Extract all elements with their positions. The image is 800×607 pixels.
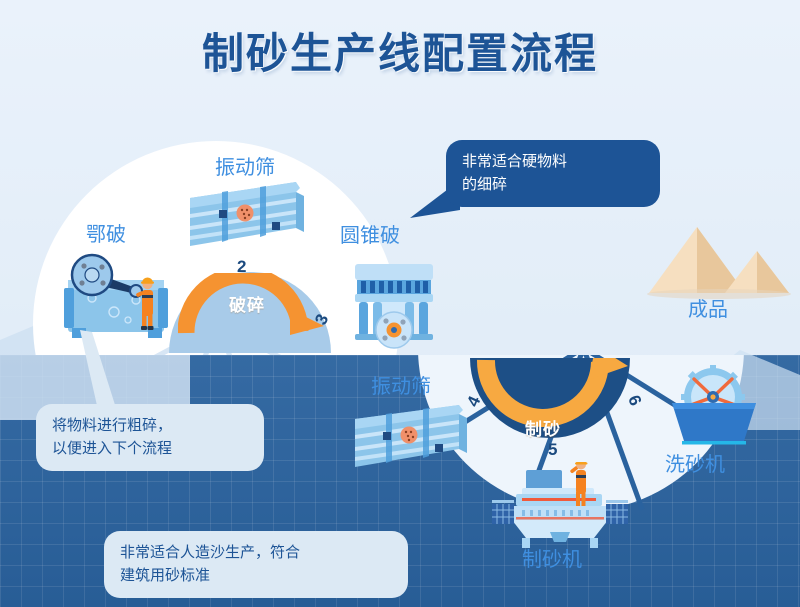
sand-maker-icon — [492, 462, 632, 550]
machine-label-jaw-crusher: 鄂破 — [86, 225, 126, 245]
sand-pile-icon — [645, 225, 795, 305]
sand-washer-icon — [658, 365, 768, 449]
callout-hard-material-fine-crushing: 非常适合硬物料 的细碎 — [446, 140, 660, 207]
vibrating-screen-icon — [188, 180, 308, 260]
step-number-5: 5 — [548, 441, 557, 458]
sand-making-arc-label: 制砂 — [525, 415, 561, 440]
crushing-arc-label: 破碎 — [229, 291, 265, 316]
step-number-2: 2 — [237, 258, 246, 275]
machine-label-vibrating-screen-top: 振动筛 — [215, 158, 275, 178]
product-label: 成品 — [688, 300, 728, 320]
callout-coarse-crushing: 将物料进行粗碎， 以便进入下个流程 — [36, 404, 264, 471]
machine-label-cone-crusher: 圆锥破 — [340, 226, 400, 246]
machine-label-vibrating-screen-bottom: 振动筛 — [371, 377, 431, 397]
machine-label-sand-maker: 制砂机 — [522, 550, 582, 570]
cone-crusher-icon — [347, 258, 443, 350]
infographic-canvas: 制砂生产线配置流程 破碎 1 2 3 鄂破 — [0, 0, 800, 607]
callout-tail-coarse-crushing — [62, 330, 132, 415]
callout-artificial-sand: 非常适合人造沙生产，符合 建筑用砂标准 — [104, 531, 408, 598]
vibrating-screen-icon — [353, 403, 471, 481]
machine-label-sand-washer: 洗砂机 — [665, 455, 725, 475]
page-title: 制砂生产线配置流程 — [0, 20, 800, 81]
